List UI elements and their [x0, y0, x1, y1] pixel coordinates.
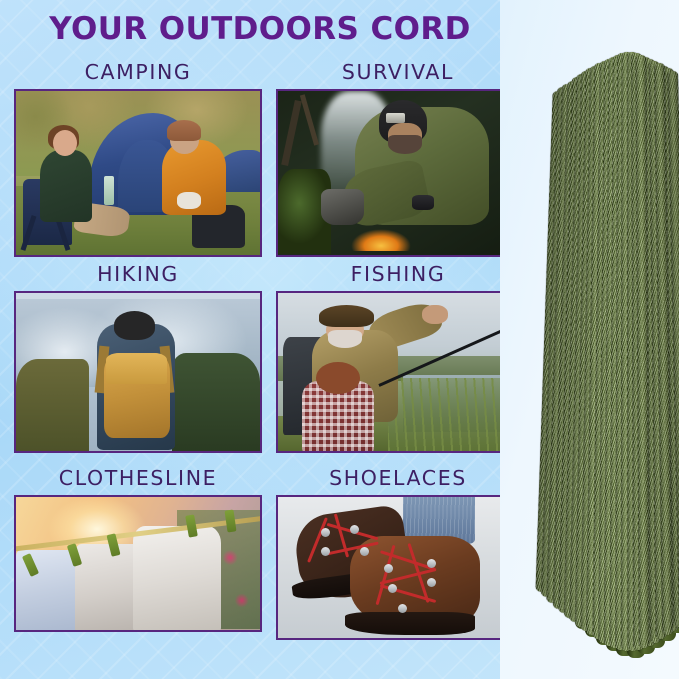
card-survival: SURVIVAL: [276, 62, 520, 257]
survival-wristwatch: [412, 195, 434, 210]
card-photo-survival: [276, 89, 520, 257]
card-photo-hiking: [14, 291, 262, 453]
fishing-man-hat: [319, 305, 374, 327]
fishing-man-hand: [422, 305, 448, 324]
eyelet-icon: [360, 547, 369, 556]
product-photo-panel: [500, 0, 679, 679]
survival-headlamp-icon: [386, 113, 405, 123]
card-photo-shoelaces: [276, 495, 520, 640]
eyelet-icon: [384, 564, 393, 573]
card-clothesline: CLOTHESLINE: [14, 468, 262, 632]
survival-scene: [278, 91, 518, 255]
camping-scene: [16, 91, 260, 255]
card-fishing: FISHING: [276, 264, 520, 453]
fishing-man-beard: [328, 330, 362, 347]
paracord-bundle: [542, 52, 679, 652]
card-photo-camping: [14, 89, 262, 257]
hiking-backpack-flap: [106, 353, 167, 385]
camping-gear-item: [177, 192, 201, 208]
camping-man-beanie: [167, 120, 201, 141]
card-camping: CAMPING: [14, 62, 262, 257]
eyelet-icon: [427, 559, 436, 568]
eyelet-icon: [350, 525, 359, 534]
survival-campfire: [350, 225, 412, 251]
shoelaces-scene: [278, 497, 518, 638]
clothesline-garment: [133, 526, 221, 630]
fishing-boy-head: [316, 362, 359, 394]
eyelet-icon: [398, 604, 407, 613]
page-title: YOUR OUTDOORS CORD: [0, 12, 520, 46]
card-label-camping: CAMPING: [14, 62, 262, 83]
camping-woman-head: [53, 130, 77, 156]
card-photo-fishing: [276, 291, 520, 453]
hiking-scene: [16, 293, 260, 451]
shoelaces-boot-sole: [345, 612, 475, 635]
fishing-scene: [278, 293, 518, 451]
card-label-shoelaces: SHOELACES: [276, 468, 520, 489]
eyelet-icon: [427, 578, 436, 587]
card-label-survival: SURVIVAL: [276, 62, 520, 83]
eyelet-icon: [321, 528, 330, 537]
card-photo-clothesline: [14, 495, 262, 632]
card-shoelaces: SHOELACES: [276, 468, 520, 640]
card-hiking: HIKING: [14, 264, 262, 453]
fishing-reeds: [388, 378, 518, 451]
card-label-hiking: HIKING: [14, 264, 262, 285]
hiking-trees-right: [172, 353, 260, 451]
hiking-trees-left: [16, 359, 89, 451]
survival-kettle: [321, 189, 364, 225]
camping-bottle: [104, 176, 114, 206]
camping-woman-jacket: [40, 150, 91, 222]
clothesline-scene: [16, 497, 260, 630]
card-label-clothesline: CLOTHESLINE: [14, 468, 262, 489]
card-label-fishing: FISHING: [276, 264, 520, 285]
hiking-hiker-head: [114, 311, 155, 339]
product-infographic: YOUR OUTDOORS CORD CAMPING: [0, 0, 679, 679]
